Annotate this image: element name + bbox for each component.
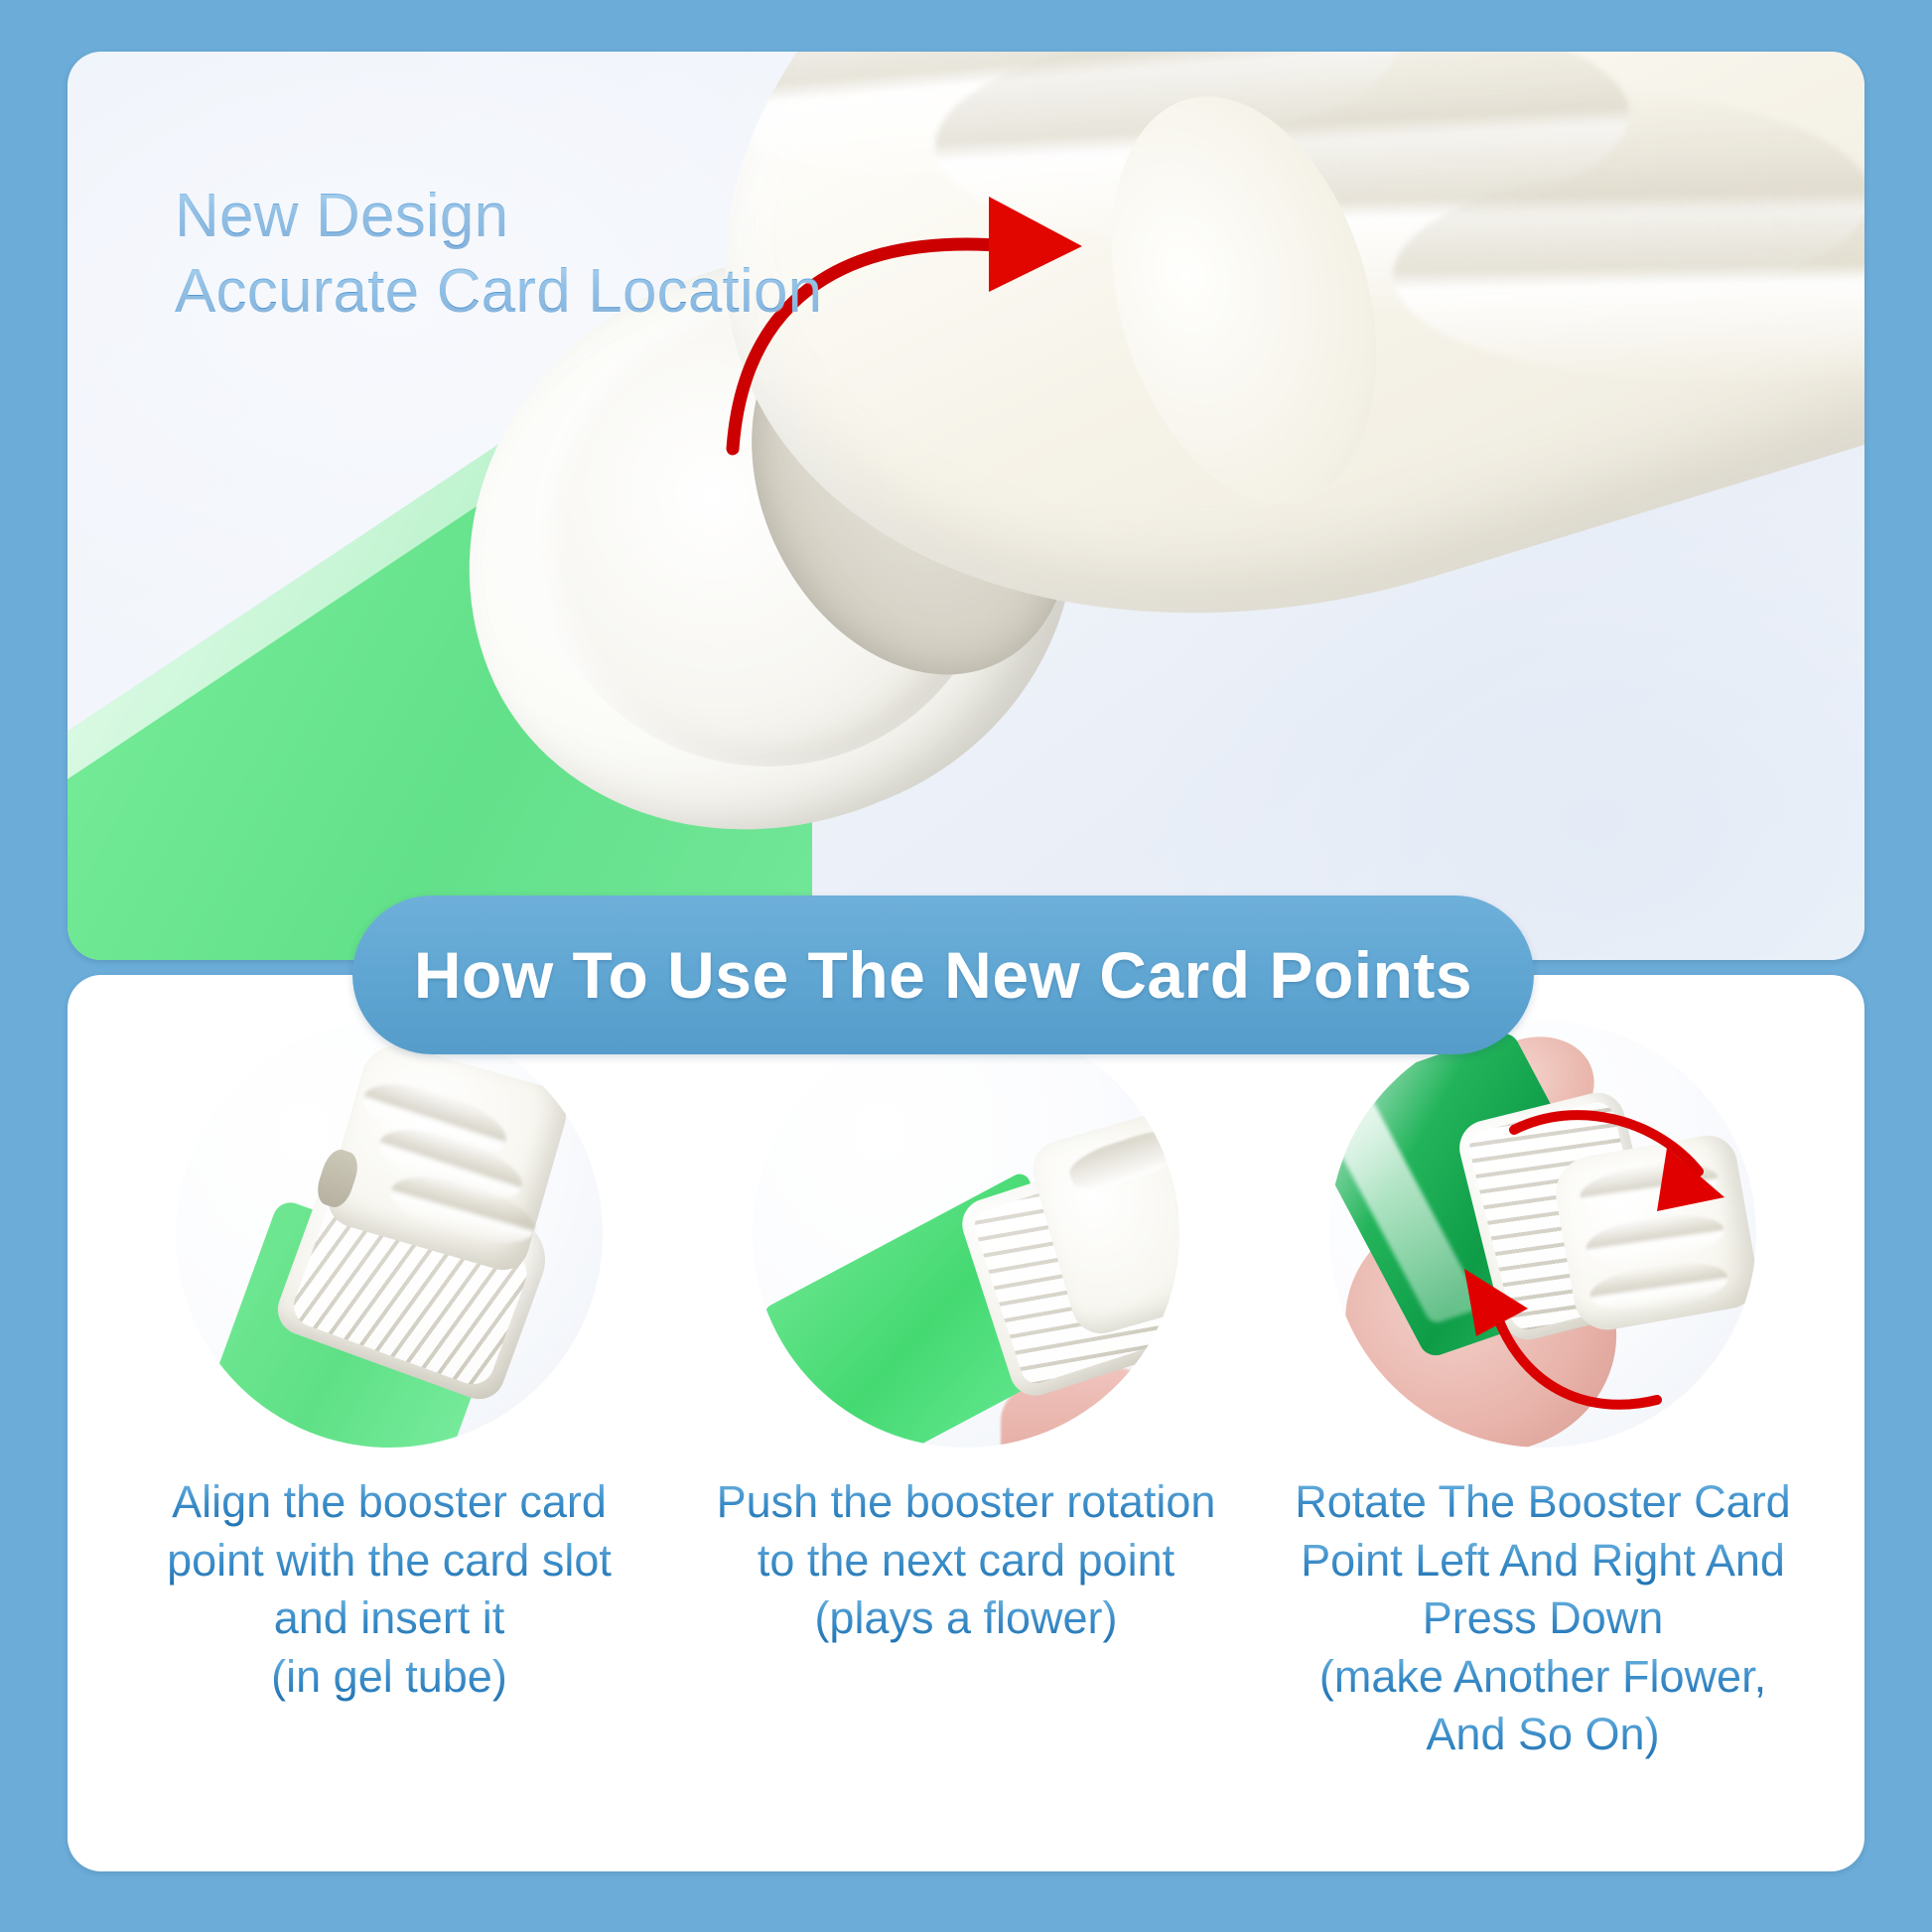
hero-title-line-1: New Design: [175, 179, 822, 254]
booster-push-rotation-photo: [753, 1021, 1179, 1448]
rotate-left-right-arrows-icon: [1329, 1021, 1756, 1448]
caption-line: Rotate The Booster Card: [1295, 1473, 1790, 1532]
caption-line: Press Down: [1295, 1589, 1790, 1648]
caption-line: point with the card slot: [167, 1532, 612, 1590]
caption-line: Align the booster card: [167, 1473, 612, 1532]
step-3-caption: Rotate The Booster Card Point Left And R…: [1295, 1473, 1790, 1764]
step-1: Align the booster card point with the ca…: [101, 1021, 677, 1706]
steps-row: Align the booster card point with the ca…: [68, 975, 1864, 1871]
caption-line: to the next card point: [717, 1532, 1216, 1590]
caption-line: Point Left And Right And: [1295, 1532, 1790, 1590]
caption-line: Push the booster rotation: [717, 1473, 1216, 1532]
step-3: Rotate The Booster Card Point Left And R…: [1255, 1021, 1831, 1764]
steps-panel: Align the booster card point with the ca…: [68, 975, 1864, 1871]
hero-photo-panel: New Design Accurate Card Location: [68, 52, 1864, 960]
caption-line: (plays a flower): [717, 1589, 1216, 1648]
product-infographic-page: New Design Accurate Card Location How To…: [0, 0, 1932, 1932]
step-2-caption: Push the booster rotation to the next ca…: [717, 1473, 1216, 1648]
booster-card-align-photo: [176, 1021, 603, 1448]
booster-rotate-press-photo: [1329, 1021, 1756, 1448]
caption-line: (make Another Flower,: [1295, 1648, 1790, 1707]
hero-title-line-2: Accurate Card Location: [175, 254, 822, 330]
caption-line: (in gel tube): [167, 1648, 612, 1707]
step-2: Push the booster rotation to the next ca…: [678, 1021, 1254, 1648]
step-1-caption: Align the booster card point with the ca…: [167, 1473, 612, 1706]
section-banner-label: How To Use The New Card Points: [414, 937, 1472, 1013]
section-banner: How To Use The New Card Points: [352, 896, 1534, 1054]
caption-line: And So On): [1295, 1706, 1790, 1764]
caption-line: and insert it: [167, 1589, 612, 1648]
page-title: New Design Accurate Card Location: [175, 179, 822, 329]
